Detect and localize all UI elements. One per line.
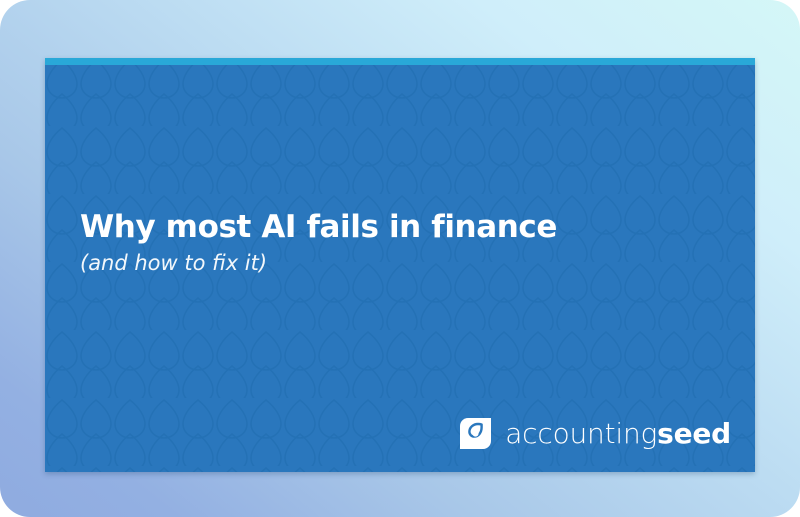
slide-canvas-frame: Why most AI fails in finance (and how to… [0, 0, 800, 517]
logo-word-seed: seed [657, 417, 731, 450]
accounting-seed-leaf-mark-icon [459, 417, 492, 450]
slide-title: Why most AI fails in finance [80, 210, 680, 245]
accounting-seed-logo[interactable]: accountingseed [459, 417, 731, 450]
presentation-slide[interactable]: Why most AI fails in finance (and how to… [45, 58, 755, 472]
slide-text-block: Why most AI fails in finance (and how to… [80, 210, 680, 275]
top-accent-bar [45, 58, 755, 65]
logo-wordmark: accountingseed [505, 420, 731, 448]
slide-subtitle: (and how to fix it) [80, 251, 680, 275]
logo-word-accounting: accounting [505, 417, 657, 450]
